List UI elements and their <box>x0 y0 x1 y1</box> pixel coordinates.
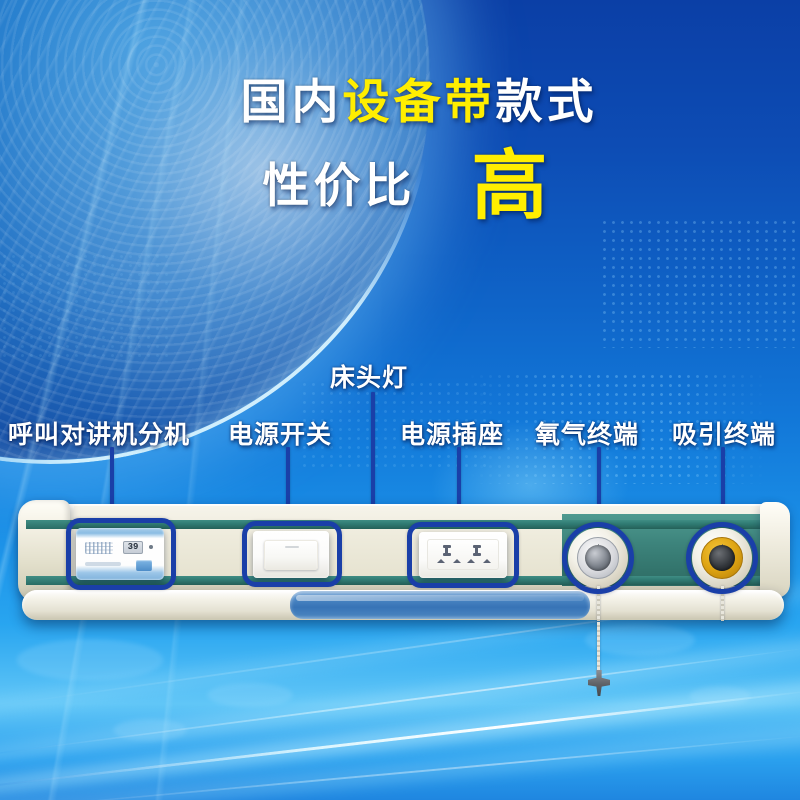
panel-rail-blue-cover <box>290 591 590 619</box>
panel-right-endcap <box>760 502 790 598</box>
emergency-pull-cord[interactable] <box>597 622 600 674</box>
headline-line2-text: 性价比 <box>263 159 416 212</box>
halftone-dots <box>0 252 170 362</box>
headline-block: 国内设备带款式 性价比高 <box>0 78 800 225</box>
callout-label-suction: 吸引终端 <box>672 415 776 451</box>
callout-label-power-switch: 电源开关 <box>228 415 332 451</box>
callout-label-oxygen: 氧气终端 <box>535 415 639 451</box>
headline-emphasis: 高 <box>472 144 548 229</box>
headline-line1-part3: 款式 <box>496 75 598 128</box>
highlight-marker-power-socket <box>407 522 519 588</box>
callout-label-power-socket: 电源插座 <box>400 415 504 451</box>
headline-line-2: 性价比高 <box>0 149 800 225</box>
halftone-dots <box>600 218 800 348</box>
promo-image-canvas: 国内设备带款式 性价比高 呼叫对讲机分机 床头灯 电源开关 电源插座 氧气终端 … <box>0 0 800 800</box>
highlight-marker-suction <box>686 522 758 594</box>
headline-line1-part1: 国内 <box>241 75 343 128</box>
panel-left-endcap <box>18 500 70 602</box>
highlight-marker-oxygen <box>562 522 634 594</box>
callout-label-bed-lamp: 床头灯 <box>330 358 408 394</box>
callout-label-intercom: 呼叫对讲机分机 <box>8 415 190 451</box>
highlight-marker-intercom <box>66 518 176 590</box>
highlight-marker-power-switch <box>242 521 342 587</box>
headline-line-1: 国内设备带款式 <box>0 78 800 125</box>
headline-line1-part2: 设备带 <box>343 75 496 128</box>
